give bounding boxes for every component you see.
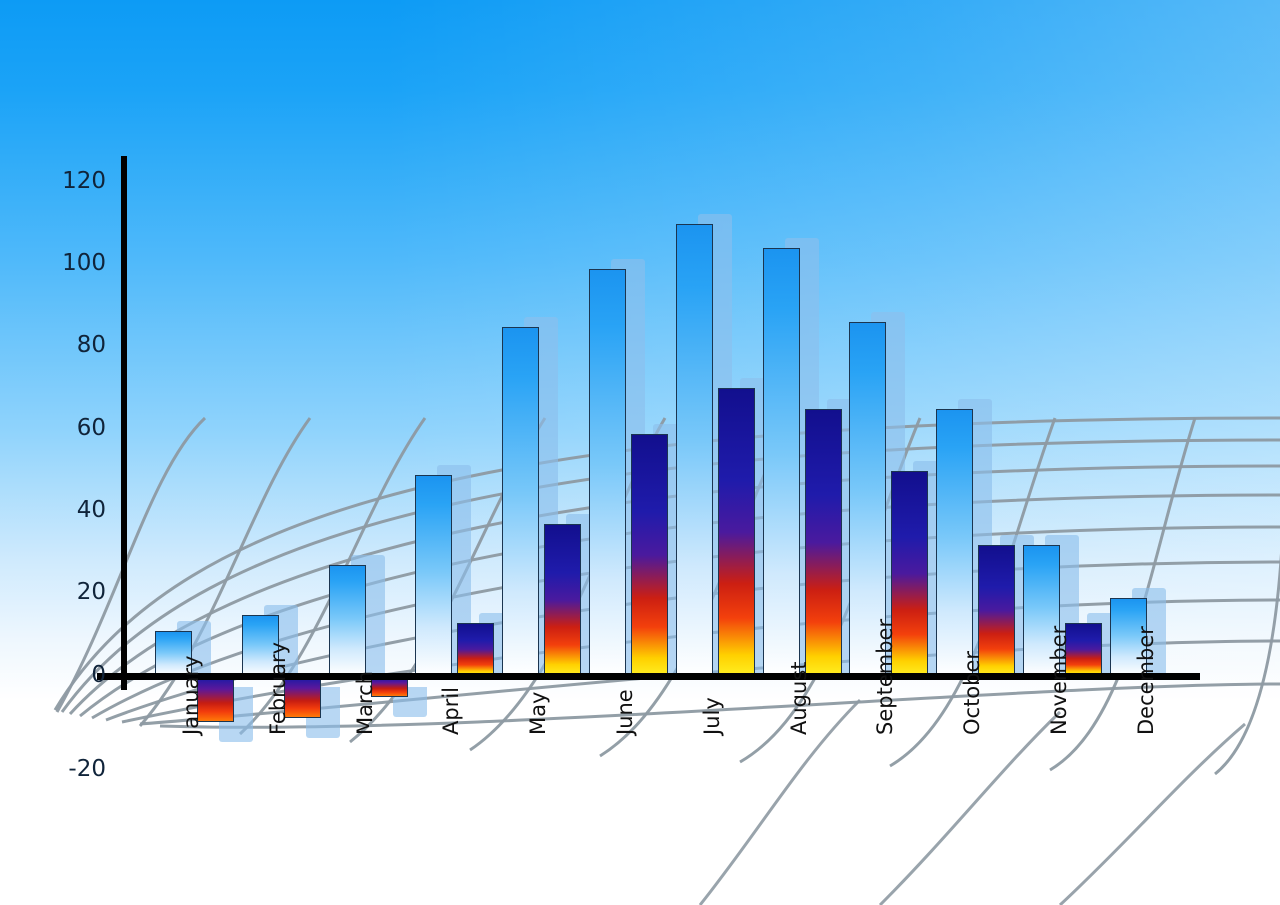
bar: [805, 409, 842, 677]
bar: [589, 269, 626, 677]
x-tick-label-june: June: [613, 689, 637, 735]
bar: [329, 565, 366, 676]
y-tick-label: 20: [40, 579, 106, 605]
y-tick-label: 80: [40, 332, 106, 358]
x-tick-label-november: November: [1047, 626, 1071, 735]
zero-baseline: [97, 673, 1200, 680]
y-tick-label: 120: [40, 168, 106, 194]
x-tick-label-april: April: [439, 687, 463, 735]
plot-area: 120100806040200-20 JanuaryFebruaryMarchA…: [0, 0, 1280, 905]
bar: [544, 524, 581, 676]
y-tick-label: 40: [40, 497, 106, 523]
chart-canvas: 120100806040200-20 JanuaryFebruaryMarchA…: [0, 0, 1280, 905]
bar: [457, 623, 494, 677]
x-tick-label-august: August: [787, 662, 811, 736]
y-tick-label: -20: [40, 756, 106, 782]
y-tick-label: 100: [40, 250, 106, 276]
bar: [415, 475, 452, 677]
bars-layer: [0, 0, 1280, 905]
y-tick-label: 0: [40, 662, 106, 688]
x-tick-label-march: March: [353, 671, 377, 735]
x-tick-label-february: February: [266, 642, 290, 735]
y-tick-label: 60: [40, 415, 106, 441]
bar: [763, 248, 800, 676]
y-axis-line: [121, 156, 127, 690]
bar: [936, 409, 973, 677]
bar: [676, 224, 713, 677]
bar: [502, 327, 539, 677]
x-tick-label-october: October: [960, 651, 984, 735]
x-tick-label-january: January: [179, 655, 203, 735]
x-tick-label-december: December: [1134, 626, 1158, 735]
x-tick-label-september: September: [873, 619, 897, 735]
x-tick-label-may: May: [526, 692, 550, 735]
x-tick-label-july: July: [700, 697, 724, 735]
bar: [718, 388, 755, 676]
bar: [631, 434, 668, 677]
